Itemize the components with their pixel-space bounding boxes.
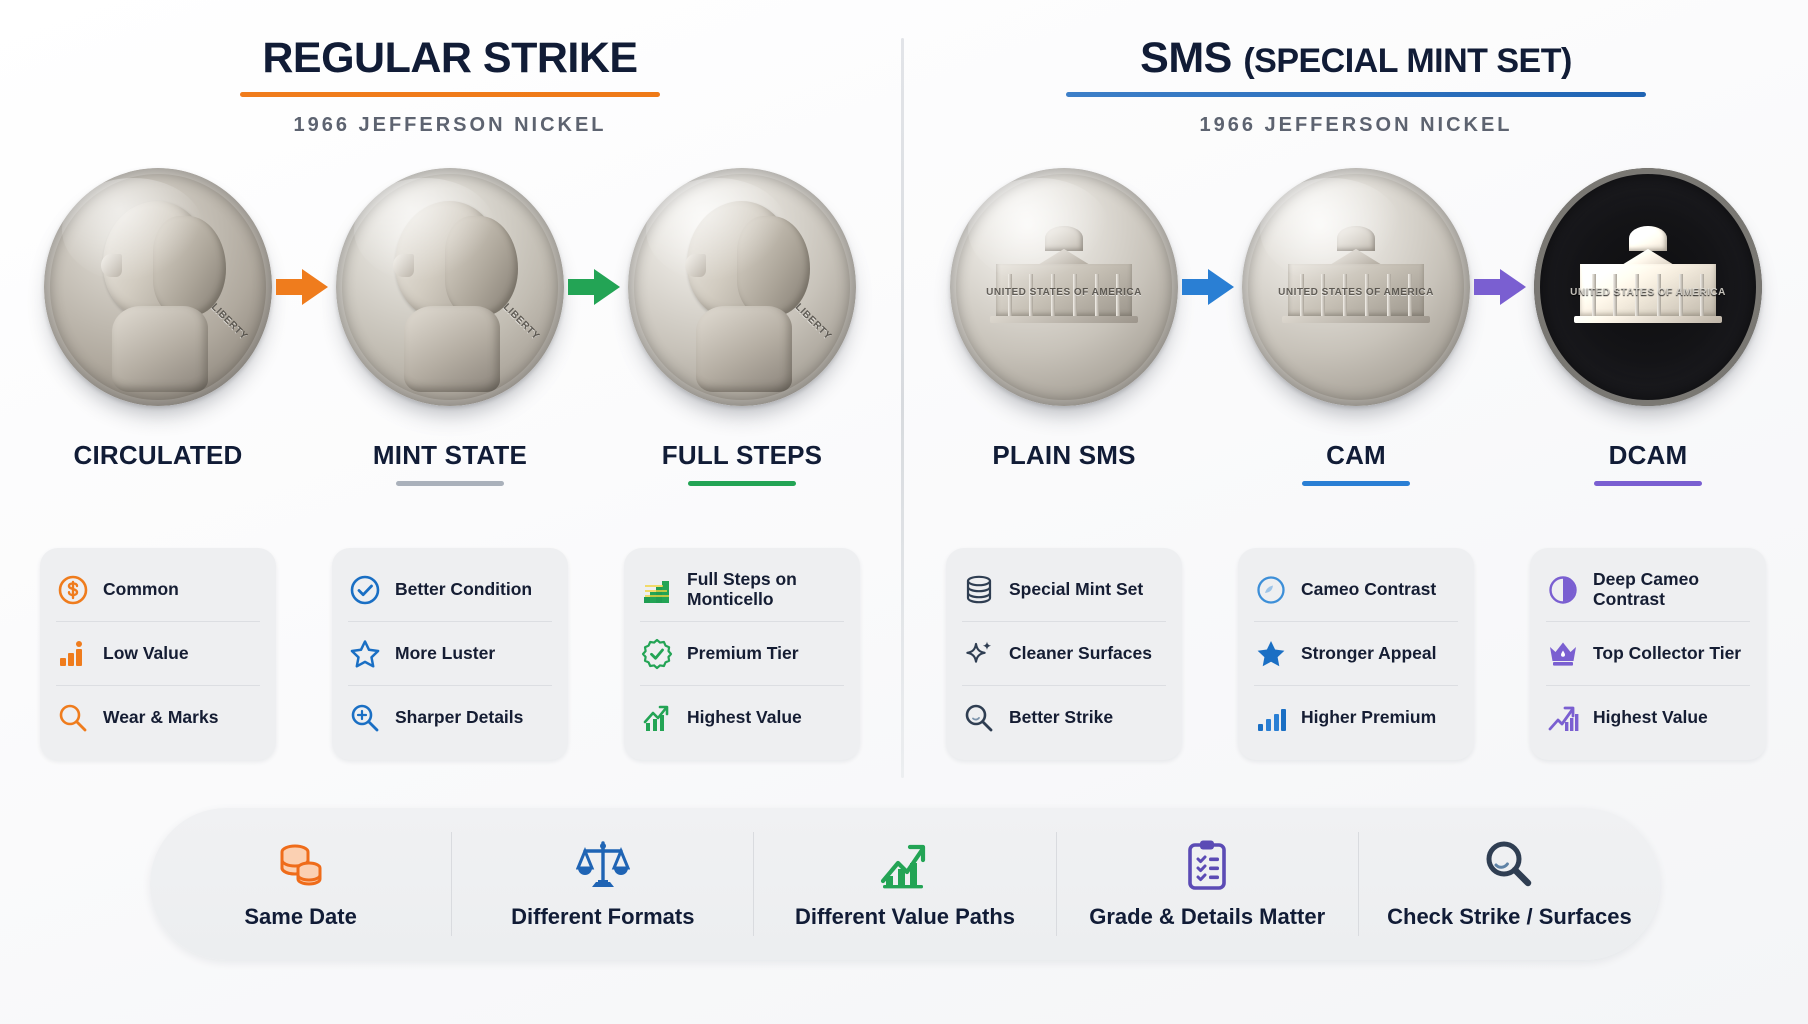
sparkle-icon (962, 637, 996, 671)
coin-plain-sms: E PLURIBUS UNUM UNITED STATES OF AMERICA (946, 168, 1182, 406)
coin-row-regular: IN GOD WE TRUST LIBERTY 1966 IN GOD WE T… (0, 168, 900, 406)
arrow-plain-to-cam (1182, 267, 1238, 307)
summary-item-check-strike-surfaces: Check Strike / Surfaces (1359, 832, 1660, 936)
feature-row: Better Strike (962, 686, 1166, 750)
feature-row: Cameo Contrast (1254, 558, 1458, 622)
grade-name: FULL STEPS (624, 440, 860, 471)
scales-icon (576, 838, 630, 892)
grade-name: CAM (1238, 440, 1474, 471)
grade-underline (688, 481, 796, 486)
magnifier-plus-icon (348, 701, 382, 735)
feature-row: Special Mint Set (962, 558, 1166, 622)
feature-row: Wear & Marks (56, 686, 260, 750)
feature-label: Top Collector Tier (1593, 644, 1741, 664)
half-circle-icon (1546, 573, 1580, 607)
summary-label: Different Value Paths (795, 904, 1015, 930)
feature-label: Special Mint Set (1009, 580, 1143, 600)
panel-sms: SMS (SPECIAL MINT SET) 1966 JEFFERSON NI… (904, 0, 1808, 790)
feature-label: Cameo Contrast (1301, 580, 1436, 600)
feature-row: Premium Tier (640, 622, 844, 686)
contrast-circle-icon (1254, 573, 1288, 607)
coin-mint-state: IN GOD WE TRUST LIBERTY 1966 (332, 168, 568, 406)
feature-label: More Luster (395, 644, 495, 664)
feature-label: Highest Value (687, 708, 802, 728)
feature-row: Better Condition (348, 558, 552, 622)
page-title: SMS (SPECIAL MINT SET) (904, 36, 1808, 81)
feature-row: Cleaner Surfaces (962, 622, 1166, 686)
feature-row: Highest Value (640, 686, 844, 750)
feature-card-dcam: Deep Cameo Contrast Top Collector Tier H… (1530, 548, 1766, 760)
feature-label: Wear & Marks (103, 708, 218, 728)
grade-labels-sms: PLAIN SMS CAM DCAM (904, 440, 1808, 486)
feature-row: Full Steps on Monticello (640, 558, 844, 622)
star-filled-icon (1254, 637, 1288, 671)
bar-chart-icon (56, 637, 90, 671)
grade-underline (1594, 481, 1702, 486)
feature-label: Sharper Details (395, 708, 523, 728)
feature-label: Higher Premium (1301, 708, 1436, 728)
feature-row: Low Value (56, 622, 260, 686)
grade-label-circulated: CIRCULATED (40, 440, 276, 486)
panel-header: REGULAR STRIKE 1966 JEFFERSON NICKEL (0, 0, 900, 137)
grade-name: CIRCULATED (40, 440, 276, 471)
feature-row: More Luster (348, 622, 552, 686)
arrow-cam-to-dcam (1474, 267, 1530, 307)
coin-circulated: IN GOD WE TRUST LIBERTY 1966 (40, 168, 276, 406)
check-circle-icon (348, 573, 382, 607)
title-main: SMS (1140, 34, 1243, 82)
badge-check-icon (640, 637, 674, 671)
grade-labels-regular: CIRCULATED MINT STATE FULL STEPS (0, 440, 900, 486)
feature-label: Stronger Appeal (1301, 644, 1436, 664)
stairs-icon (640, 573, 674, 607)
coin-row-sms: E PLURIBUS UNUM UNITED STATES OF AMERICA… (904, 168, 1808, 406)
grade-label-dcam: DCAM (1530, 440, 1766, 486)
feature-label: Deep Cameo Contrast (1593, 570, 1750, 610)
feature-cards-regular: Common Low Value Wear & Marks (0, 548, 900, 760)
panel-header: SMS (SPECIAL MINT SET) 1966 JEFFERSON NI… (904, 0, 1808, 137)
feature-card-circulated: Common Low Value Wear & Marks (40, 548, 276, 760)
dollar-circle-icon (56, 573, 90, 607)
magnifier-icon (1482, 838, 1536, 892)
feature-cards-sms: Special Mint Set Cleaner Surfaces Better… (904, 548, 1808, 760)
summary-item-grade-details-matter: Grade & Details Matter (1057, 832, 1359, 936)
feature-label: Cleaner Surfaces (1009, 644, 1152, 664)
growth-chart-icon (878, 838, 932, 892)
panel-subtitle: 1966 JEFFERSON NICKEL (0, 114, 900, 137)
feature-row: Stronger Appeal (1254, 622, 1458, 686)
arrow-circulated-to-mint-state (276, 267, 332, 307)
summary-item-different-value-paths: Different Value Paths (754, 832, 1056, 936)
summary-label: Check Strike / Surfaces (1387, 904, 1632, 930)
feature-card-plain-sms: Special Mint Set Cleaner Surfaces Better… (946, 548, 1182, 760)
coin-cam: E PLURIBUS UNUM UNITED STATES OF AMERICA (1238, 168, 1474, 406)
feature-label: Better Strike (1009, 708, 1113, 728)
coin-dcam: E PLURIBUS UNUM UNITED STATES OF AMERICA (1530, 168, 1766, 406)
summary-item-same-date: Same Date (150, 832, 452, 936)
bar-chart-icon (1254, 701, 1288, 735)
summary-label: Grade & Details Matter (1089, 904, 1325, 930)
panel-regular-strike: REGULAR STRIKE 1966 JEFFERSON NICKEL IN … (0, 0, 900, 790)
coin-stack-icon (962, 573, 996, 607)
grade-name: MINT STATE (332, 440, 568, 471)
grade-name: DCAM (1530, 440, 1766, 471)
grade-underline (396, 481, 504, 486)
summary-label: Different Formats (511, 904, 694, 930)
title-underline (240, 92, 660, 97)
feature-label: Highest Value (1593, 708, 1708, 728)
page-title: REGULAR STRIKE (0, 36, 900, 81)
feature-row: Deep Cameo Contrast (1546, 558, 1750, 622)
arrow-mint-state-to-full-steps (568, 267, 624, 307)
grade-label-full-steps: FULL STEPS (624, 440, 860, 486)
summary-bar: Same Date Different Formats Different Va… (150, 808, 1660, 960)
feature-row: Common (56, 558, 260, 622)
feature-label: Low Value (103, 644, 189, 664)
magnifier-icon (962, 701, 996, 735)
feature-card-full-steps: Full Steps on Monticello Premium Tier Hi… (624, 548, 860, 760)
feature-card-mint-state: Better Condition More Luster Sharper Det… (332, 548, 568, 760)
feature-card-cam: Cameo Contrast Stronger Appeal Higher Pr… (1238, 548, 1474, 760)
grade-label-plain-sms: PLAIN SMS (946, 440, 1182, 486)
grade-label-mint-state: MINT STATE (332, 440, 568, 486)
title-paren: (SPECIAL MINT SET) (1243, 42, 1572, 80)
summary-item-different-formats: Different Formats (452, 832, 754, 936)
grade-underline (1302, 481, 1410, 486)
panel-subtitle: 1966 JEFFERSON NICKEL (904, 114, 1808, 137)
feature-row: Higher Premium (1254, 686, 1458, 750)
coin-stack-orange-icon (274, 838, 328, 892)
grade-label-cam: CAM (1238, 440, 1474, 486)
coin-full-steps: IN GOD WE TRUST LIBERTY 1966 (624, 168, 860, 406)
summary-label: Same Date (244, 904, 357, 930)
feature-row: Top Collector Tier (1546, 622, 1750, 686)
star-outline-icon (348, 637, 382, 671)
magnifier-icon (56, 701, 90, 735)
grade-name: PLAIN SMS (946, 440, 1182, 471)
growth-chart-icon (640, 701, 674, 735)
infographic-root: REGULAR STRIKE 1966 JEFFERSON NICKEL IN … (0, 0, 1808, 1024)
feature-label: Common (103, 580, 179, 600)
feature-label: Better Condition (395, 580, 532, 600)
feature-row: Sharper Details (348, 686, 552, 750)
clipboard-check-icon (1180, 838, 1234, 892)
crown-icon (1546, 637, 1580, 671)
growth-arrow-icon (1546, 701, 1580, 735)
feature-label: Full Steps on Monticello (687, 570, 844, 610)
feature-label: Premium Tier (687, 644, 799, 664)
title-underline (1066, 92, 1646, 97)
feature-row: Highest Value (1546, 686, 1750, 750)
